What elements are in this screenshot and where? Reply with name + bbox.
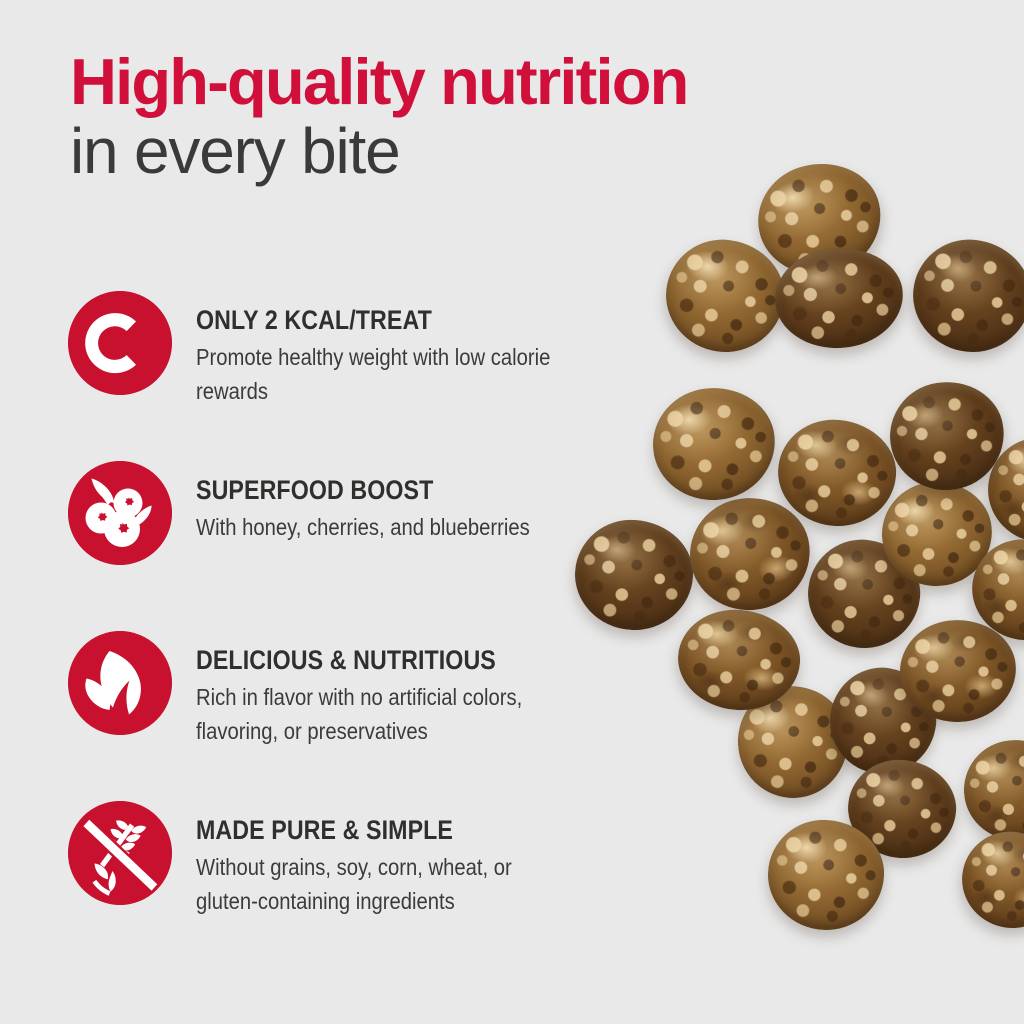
- feature-title: SUPERFOOD BOOST: [196, 475, 600, 505]
- treat-piece: [959, 735, 1024, 845]
- treat-piece: [953, 823, 1024, 938]
- headline-line-1: High-quality nutrition: [70, 48, 970, 116]
- feature-description: With honey, cherries, and blueberries: [196, 510, 610, 544]
- feature-description: Without grains, soy, corn, wheat, or glu…: [196, 850, 610, 918]
- treat-piece: [904, 231, 1024, 362]
- berries-icon: [68, 461, 172, 565]
- feature-title: DELICIOUS & NUTRITIOUS: [196, 645, 600, 675]
- leaves-icon: [68, 631, 172, 735]
- feature-title: MADE PURE & SIMPLE: [196, 815, 600, 845]
- treat-piece: [571, 516, 696, 634]
- product-photo-treats: [560, 120, 1024, 1024]
- no-grain-icon: [68, 801, 172, 905]
- calorie-c-icon: [68, 291, 172, 395]
- treat-piece: [647, 382, 780, 506]
- feature-description: Promote healthy weight with low calorie …: [196, 340, 610, 408]
- feature-description: Rich in flavor with no artificial colors…: [196, 680, 610, 748]
- infographic-canvas: High-quality nutrition in every bite ONL…: [0, 0, 1024, 1024]
- feature-title: ONLY 2 KCAL/TREAT: [196, 305, 600, 335]
